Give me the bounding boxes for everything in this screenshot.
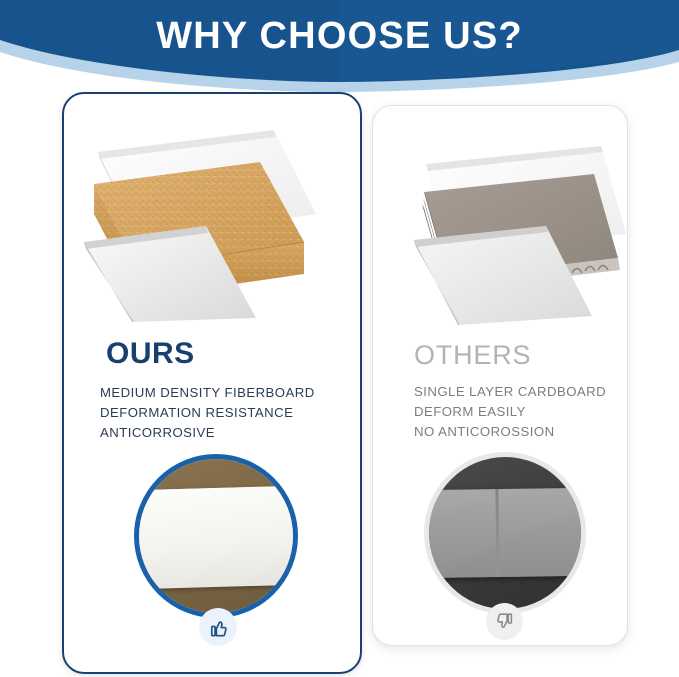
others-product-photo [424,452,586,614]
ours-feature-list: MEDIUM DENSITY FIBERBOARD DEFORMATION RE… [100,383,315,443]
page-title: WHY CHOOSE US? [0,14,679,58]
others-feature-item: SINGLE LAYER CARDBOARD [414,382,606,402]
header-banner: WHY CHOOSE US? [0,0,679,92]
others-rating-badge [486,603,523,640]
ours-heading: OURS [106,337,195,371]
mdf-board-exploded-illustration [78,122,328,322]
others-heading: OTHERS [414,340,531,371]
thumbs-up-icon [207,616,230,639]
ours-feature-item: ANTICORROSIVE [100,423,315,443]
others-feature-item: DEFORM EASILY [414,402,606,422]
cardboard-exploded-illustration [396,130,626,325]
ours-photo-panel [134,486,298,589]
thumbs-down-icon [494,611,516,633]
ours-rating-badge [199,608,237,646]
why-choose-us-infographic: WHY CHOOSE US? [0,0,679,677]
ours-feature-item: MEDIUM DENSITY FIBERBOARD [100,383,315,403]
others-feature-list: SINGLE LAYER CARDBOARD DEFORM EASILY NO … [414,382,606,442]
others-feature-item: NO ANTICOROSSION [414,422,606,442]
others-photo-panel [424,488,586,579]
ours-product-photo [134,454,298,618]
ours-feature-item: DEFORMATION RESISTANCE [100,403,315,423]
